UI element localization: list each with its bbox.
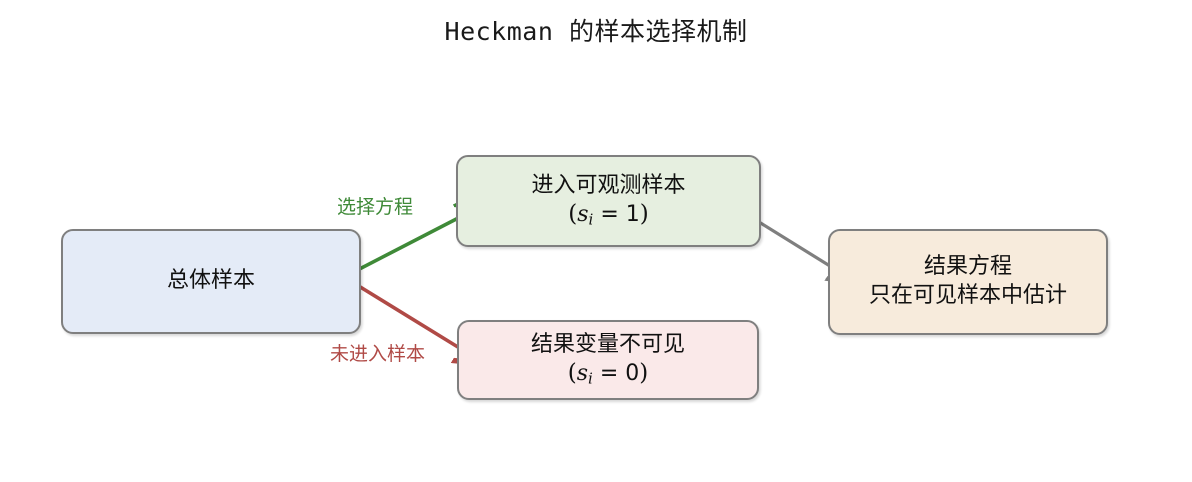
outcome-equation-node-label-line1: 结果方程 xyxy=(924,253,1012,282)
formula-operator: = xyxy=(600,361,618,386)
formula-value: 0 xyxy=(625,361,639,386)
formula-subscript: i xyxy=(589,211,594,229)
formula-subscript: i xyxy=(588,370,593,388)
formula-value: 1 xyxy=(626,202,640,227)
edge-label-nonselection: 未进入样本 xyxy=(330,339,425,366)
formula-variable: s xyxy=(577,361,588,386)
selected-sample-node-label: 进入可观测样本 xyxy=(531,172,685,201)
unobserved-outcome-node-formula: (si = 0) xyxy=(568,359,649,389)
formula-variable: s xyxy=(577,202,588,227)
outcome-equation-node-label-line2: 只在可见样本中估计 xyxy=(869,282,1067,311)
selected-sample-node-formula: (si = 1) xyxy=(568,200,649,230)
selected-sample-node[interactable]: 进入可观测样本 (si = 1) xyxy=(456,155,761,247)
population-node-label: 总体样本 xyxy=(167,267,255,296)
edge-selection-arrow xyxy=(344,214,466,277)
population-node[interactable]: 总体样本 xyxy=(61,229,361,334)
outcome-equation-node[interactable]: 结果方程 只在可见样本中估计 xyxy=(828,229,1108,335)
formula-operator: = xyxy=(600,202,618,227)
unobserved-outcome-node-label: 结果变量不可见 xyxy=(531,331,685,360)
diagram-canvas: Heckman 的样本选择机制 总体样本 进入可观测样本 (si = 1) xyxy=(0,0,1192,482)
unobserved-outcome-node[interactable]: 结果变量不可见 (si = 0) xyxy=(457,320,759,400)
edge-label-selection: 选择方程 xyxy=(337,192,413,219)
